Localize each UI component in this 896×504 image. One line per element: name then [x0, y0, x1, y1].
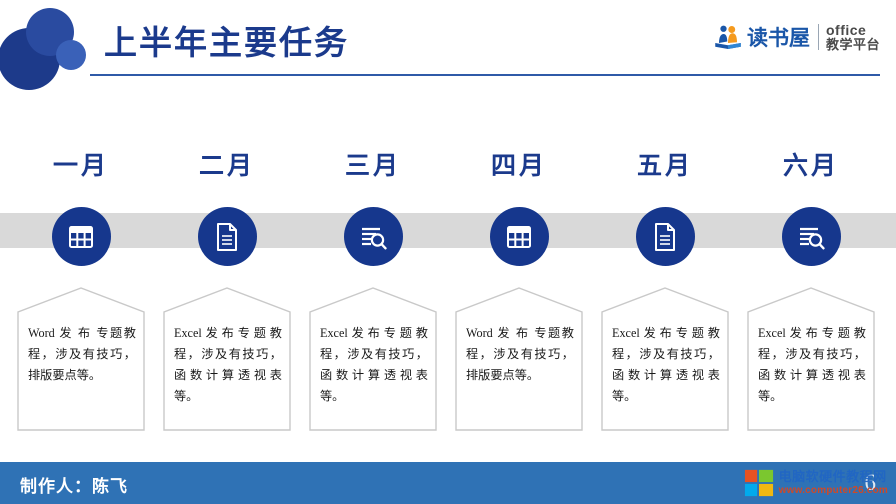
month-label-4: 四月	[446, 148, 592, 188]
logo-subtitle-cn: 教学平台	[826, 38, 880, 52]
timeline-column-5: 五月	[592, 148, 738, 266]
logo-subtitle-group: office 教学平台	[826, 23, 880, 51]
info-box-3: Excel发布专题教程，涉及有技巧，函数计算透视表等。	[309, 287, 437, 431]
watermark-url: www.computer26.com	[779, 485, 888, 496]
document-lines-icon	[213, 222, 241, 252]
page-title: 上半年主要任务	[104, 16, 349, 64]
info-box-1: Word 发 布 专题教程，涉及有技巧，排版要点等。	[17, 287, 145, 431]
info-box-5: Excel发布专题教程，涉及有技巧，函数计算透视表等。	[601, 287, 729, 431]
info-box-text-1: Word 发 布 专题教程，涉及有技巧，排版要点等。	[28, 323, 136, 386]
logo-name-text: 读书屋	[747, 22, 810, 52]
footer-author-text: 制作人：陈飞	[20, 472, 128, 497]
windows-logo-icon	[744, 468, 774, 498]
timeline-column-1: 一月	[8, 148, 154, 266]
timeline-icon-circle-1[interactable]	[52, 207, 111, 266]
info-box-text-5: Excel发布专题教程，涉及有技巧，函数计算透视表等。	[612, 323, 720, 407]
month-label-2: 二月	[154, 148, 300, 188]
person-reading-book-icon	[713, 22, 743, 52]
logo-divider	[818, 24, 819, 50]
month-label-3: 三月	[300, 148, 446, 188]
info-box-text-6: Excel发布专题教程，涉及有技巧，函数计算透视表等。	[758, 323, 866, 407]
timeline-column-6: 六月	[738, 148, 884, 266]
title-underline-rule	[90, 74, 880, 76]
brand-logo: 读书屋 office 教学平台	[713, 20, 880, 54]
logo-subtitle-en: office	[826, 23, 880, 38]
timeline-icon-circle-5[interactable]	[636, 207, 695, 266]
timeline-icon-circle-4[interactable]	[490, 207, 549, 266]
info-box-6: Excel发布专题教程，涉及有技巧，函数计算透视表等。	[747, 287, 875, 431]
info-box-text-3: Excel发布专题教程，涉及有技巧，函数计算透视表等。	[320, 323, 428, 407]
info-box-text-2: Excel发布专题教程，涉及有技巧，函数计算透视表等。	[174, 323, 282, 407]
timeline-icon-circle-2[interactable]	[198, 207, 257, 266]
document-lines-icon	[651, 222, 679, 252]
info-box-4: Word 发 布 专题教程，涉及有技巧，排版要点等。	[455, 287, 583, 431]
watermark-text-group: 电脑软硬件教程网 www.computer26.com	[779, 470, 888, 495]
document-search-icon	[358, 223, 388, 251]
watermark-site-name: 电脑软硬件教程网	[779, 470, 888, 484]
slide-canvas: 上半年主要任务 读书屋 office 教学平台 一月	[0, 0, 896, 504]
month-label-6: 六月	[738, 148, 884, 188]
month-label-5: 五月	[592, 148, 738, 188]
timeline-icon-circle-3[interactable]	[344, 207, 403, 266]
timeline-icon-circle-6[interactable]	[782, 207, 841, 266]
month-label-1: 一月	[8, 148, 154, 188]
info-box-text-4: Word 发 布 专题教程，涉及有技巧，排版要点等。	[466, 323, 574, 386]
table-grid-icon	[67, 223, 95, 251]
document-search-icon	[796, 223, 826, 251]
timeline-column-2: 二月	[154, 148, 300, 266]
decorative-circle-small	[56, 40, 86, 70]
site-watermark: 电脑软硬件教程网 www.computer26.com	[744, 468, 888, 498]
timeline-column-4: 四月	[446, 148, 592, 266]
timeline-column-3: 三月	[300, 148, 446, 266]
table-grid-icon	[505, 223, 533, 251]
info-box-2: Excel发布专题教程，涉及有技巧，函数计算透视表等。	[163, 287, 291, 431]
